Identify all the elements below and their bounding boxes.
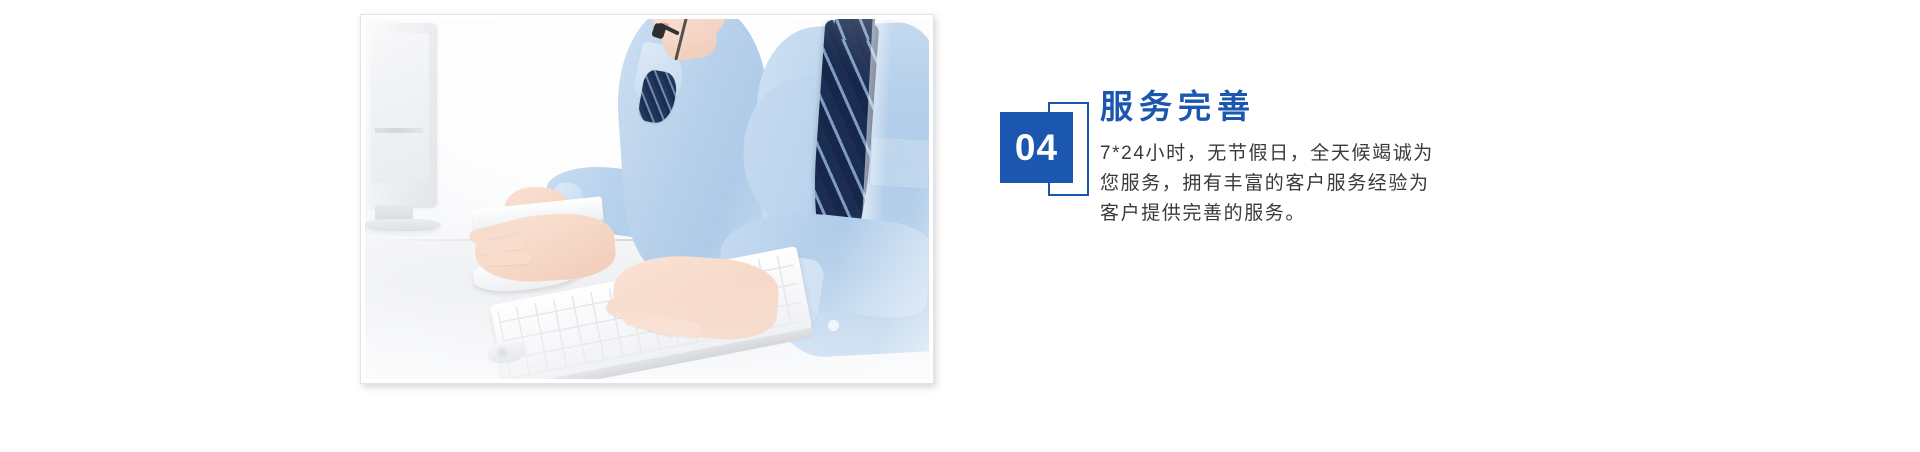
feature-photo-frame	[360, 14, 934, 384]
feature-number-badge: 04	[1000, 102, 1092, 198]
person-front-finger	[485, 251, 531, 266]
badge-number-label: 04	[1015, 129, 1058, 166]
feature-description-line: 客户提供完善的服务。	[1100, 199, 1530, 229]
monitor-icon	[367, 23, 437, 208]
feature-text-block: 服务完善 7*24小时，无节假日，全天候竭诚为 您服务，拥有丰富的客户服务经验为…	[1100, 86, 1530, 229]
feature-photo	[365, 19, 929, 379]
page-root: 04 服务完善 7*24小时，无节假日，全天候竭诚为 您服务，拥有丰富的客户服务…	[0, 0, 1920, 452]
feature-description-line: 7*24小时，无节假日，全天候竭诚为	[1100, 139, 1530, 169]
person-front-shirt-pocket	[869, 137, 929, 189]
badge-filled-box: 04	[1000, 112, 1073, 183]
feature-title: 服务完善	[1100, 86, 1530, 129]
monitor-screen	[371, 33, 429, 183]
monitor-base	[365, 219, 441, 231]
monitor-screen-glare	[375, 128, 423, 133]
feature-description: 7*24小时，无节假日，全天候竭诚为 您服务，拥有丰富的客户服务经验为 客户提供…	[1100, 139, 1530, 229]
feature-description-line: 您服务，拥有丰富的客户服务经验为	[1100, 169, 1530, 199]
person-front-cuff-button	[827, 319, 840, 332]
